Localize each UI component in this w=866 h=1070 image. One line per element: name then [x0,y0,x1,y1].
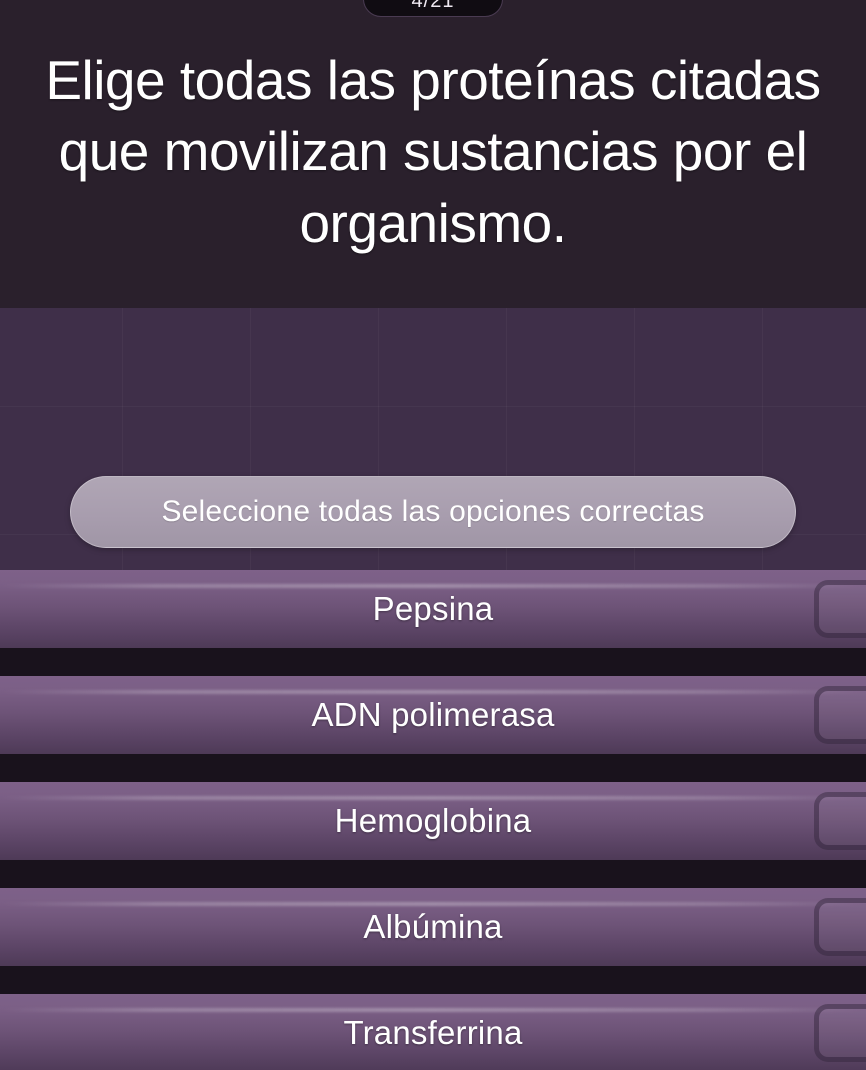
instruction-pill-wrap: Seleccione todas las opciones correctas [0,476,866,548]
option-checkbox[interactable] [814,898,866,956]
question-text: Elige todas las proteínas citadas que mo… [18,45,848,260]
option-row-adn-polimerasa[interactable]: ADN polimerasa [0,676,866,754]
option-label: Transferrina [253,1014,612,1052]
option-label: ADN polimerasa [221,696,644,734]
progress-badge: 4/21 [363,0,503,17]
instruction-pill: Seleccione todas las opciones correctas [70,476,796,548]
option-label: Albúmina [273,908,592,946]
option-row-hemoglobina[interactable]: Hemoglobina [0,782,866,860]
option-label: Pepsina [283,590,584,628]
option-checkbox[interactable] [814,580,866,638]
option-checkbox[interactable] [814,1004,866,1062]
option-checkbox[interactable] [814,686,866,744]
question-header: Elige todas las proteínas citadas que mo… [0,0,866,308]
option-row-albumina[interactable]: Albúmina [0,888,866,966]
options-list: Pepsina ADN polimerasa Hemoglobina Albúm… [0,570,866,1070]
option-checkbox[interactable] [814,792,866,850]
quiz-screen: Elige todas las proteínas citadas que mo… [0,0,866,1070]
option-row-transferrina[interactable]: Transferrina [0,994,866,1070]
option-label: Hemoglobina [245,802,622,840]
option-row-pepsina[interactable]: Pepsina [0,570,866,648]
